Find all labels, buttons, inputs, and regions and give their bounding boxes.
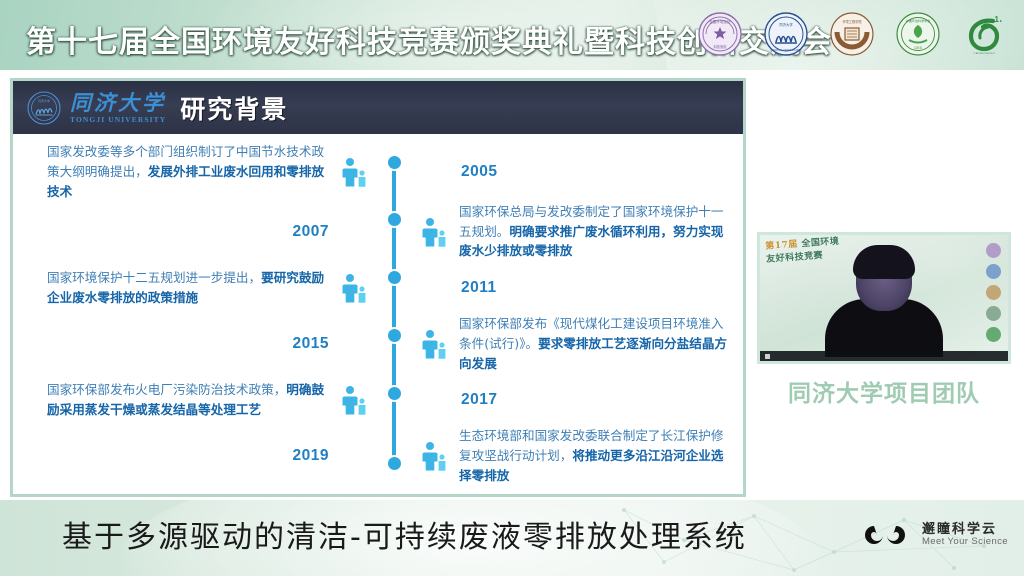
timeline-entry-paragraph: 国家环保部发布《现代煤化工建设项目环境准入条件(试行)》。要求零排放工艺逐渐向分…: [455, 314, 733, 374]
svg-text:CIES: CIES: [914, 46, 923, 50]
brand-name-cn: 邂瞳科学云: [922, 522, 1008, 537]
people-pictogram-icon: [413, 202, 455, 262]
poster-headline-line3: 友好科技竞赛: [766, 251, 824, 265]
timeline-entry-paragraph: 生态环境部和国家发改委联合制定了长江保护修复攻坚战行动计划，将推动更多沿江沿河企…: [455, 426, 733, 486]
timeline-entry-paragraph: 国家环境保护十二五规划进一步提出，要研究鼓励企业废水零排放的政策措施: [47, 268, 333, 308]
timeline-dot: [388, 156, 401, 169]
poster-headline-line1: 第17届: [765, 240, 798, 252]
timeline-dot: [388, 457, 401, 470]
tongji-wordmark: 同济大学 TONGJI UNIVERSITY: [70, 92, 166, 124]
timeline-entry-text: 国家环保部发布《现代煤化工建设项目环境准入条件(试行)》。要求零排放工艺逐渐向分…: [455, 314, 733, 374]
timeline-axis: [375, 142, 413, 486]
timeline-entry-plain: 国家环保部发布火电厂污染防治技术政策，: [47, 382, 286, 397]
people-pictogram-icon: [413, 314, 455, 374]
people-pictogram-icon: [333, 142, 375, 202]
timeline-entry-paragraph: 国家环保部发布火电厂污染防治技术政策，明确鼓励采用蒸发干燥或蒸发结晶等处理工艺: [47, 380, 333, 420]
meet-your-science-logo: [857, 520, 913, 550]
timeline-year: 2015: [47, 314, 333, 374]
people-pictogram-icon: [413, 426, 455, 486]
presenter-video-panel[interactable]: 第17届 全国环境 友好科技竞赛: [757, 232, 1011, 364]
platform-brand: 邂瞳科学云 Meet Your Science: [857, 520, 1008, 550]
svg-text:中国环境科学学会: 中国环境科学学会: [906, 18, 931, 23]
video-bottom-strip: [760, 351, 1008, 361]
timeline-entry-plain: 国家环境保护十二五规划进一步提出，: [47, 270, 261, 285]
ciesc-green-seal-logo: 中国环境科学学会 CIES: [894, 10, 942, 58]
timeline-entry-paragraph: 国家环保总局与发改委制定了国家环境保护十一五规划。明确要求推广废水循环利用，努力…: [455, 202, 733, 262]
timeline-dot: [388, 271, 401, 284]
policy-timeline: 国家发改委等多个部门组织制订了中国节水技术政策大纲明确提出，发展外排工业废水回用…: [13, 134, 743, 494]
timeline-dot: [388, 329, 401, 342]
timeline-rail: [392, 156, 396, 470]
people-pictogram-icon: [333, 374, 375, 427]
svg-text:同济大学: 同济大学: [38, 98, 50, 103]
slide-canvas: 同济大学 同济大学 TONGJI UNIVERSITY 研究背景: [10, 78, 746, 497]
tongji-wordmark-en: TONGJI UNIVERSITY: [70, 116, 166, 124]
green-leaf-17-logo: 17 Green Environment Award: [960, 10, 1008, 58]
tongji-wordmark-cn: 同济大学: [70, 92, 166, 113]
timeline-entry-text: 国家环保部发布火电厂污染防治技术政策，明确鼓励采用蒸发干燥或蒸发结晶等处理工艺: [47, 374, 333, 427]
timeline-entry-text: 生态环境部和国家发改委联合制定了长江保护修复攻坚战行动计划，将推动更多沿江沿河企…: [455, 426, 733, 486]
brand-text: 邂瞳科学云 Meet Your Science: [922, 522, 1008, 547]
event-banner: 第十七届全国环境友好科技竞赛颁奖典礼暨科技创新交流会 全国环境友好 科技竞赛: [0, 0, 1024, 70]
project-title: 基于多源驱动的清洁-可持续废液零排放处理系统: [62, 512, 747, 556]
leaf-logo-badge-number: 17: [995, 15, 1004, 24]
video-indicator-dot: [765, 354, 770, 359]
timeline-year: 2011: [455, 261, 733, 314]
timeline-entry-text: 国家环保总局与发改委制定了国家环境保护十一五规划。明确要求推广废水循环利用，努力…: [455, 202, 733, 262]
svg-text:全国环境友好: 全国环境友好: [709, 19, 731, 24]
timeline-entry-paragraph: 国家发改委等多个部门组织制订了中国节水技术政策大纲明确提出，发展外排工业废水回用…: [47, 142, 333, 202]
presenter-figure: [824, 245, 944, 357]
slide-title: 研究背景: [180, 90, 288, 126]
poster-seal-green-icon: [986, 327, 1001, 342]
presentation-screen: 第十七届全国环境友好科技竞赛颁奖典礼暨科技创新交流会 全国环境友好 科技竞赛: [0, 0, 1024, 576]
purple-seal-logo: 全国环境友好 科技竞赛: [696, 10, 744, 58]
timeline-dot: [388, 387, 401, 400]
timeline-dot: [388, 213, 401, 226]
poster-seal-blue-icon: [986, 264, 1001, 279]
slide-header: 同济大学 同济大学 TONGJI UNIVERSITY 研究背景: [13, 81, 743, 135]
slide-body: 国家发改委等多个部门组织制订了中国节水技术政策大纲明确提出，发展外排工业废水回用…: [13, 134, 743, 494]
timeline-year: 2017: [455, 374, 733, 427]
bottom-bar: 基于多源驱动的清洁-可持续废液零排放处理系统 邂瞳科学云 Meet Your S…: [0, 500, 1024, 576]
poster-seal-brown-icon: [986, 285, 1001, 300]
svg-text:Green Environment Award: Green Environment Award: [966, 51, 1001, 55]
svg-text:环境工程学院: 环境工程学院: [842, 19, 862, 24]
timeline-year: 2019: [47, 426, 333, 486]
poster-seal-column: [982, 243, 1004, 343]
brand-name-en: Meet Your Science: [922, 537, 1008, 548]
tongji-university-logo: 同济大学: [27, 91, 61, 125]
svg-text:科技竞赛: 科技竞赛: [714, 44, 728, 49]
banner-logo-row: 全国环境友好 科技竞赛 同济大学 TONGJI UNIVERSITY: [696, 5, 1008, 63]
svg-text:同济大学: 同济大学: [779, 22, 793, 27]
brown-seal-logo: 环境工程学院: [828, 10, 876, 58]
presenter-hair: [853, 245, 915, 279]
poster-seal-grey-icon: [986, 306, 1001, 321]
svg-text:TONGJI UNIVERSITY: TONGJI UNIVERSITY: [771, 48, 801, 52]
timeline-entry-text: 国家发改委等多个部门组织制订了中国节水技术政策大纲明确提出，发展外排工业废水回用…: [47, 142, 333, 202]
tongji-seal-logo: 同济大学 TONGJI UNIVERSITY: [762, 10, 810, 58]
people-pictogram-icon: [333, 261, 375, 314]
timeline-year: 2007: [47, 202, 333, 262]
poster-seal-purple-icon: [986, 243, 1001, 258]
timeline-entry-text: 国家环境保护十二五规划进一步提出，要研究鼓励企业废水零排放的政策措施: [47, 261, 333, 314]
timeline-year: 2005: [455, 142, 733, 202]
presenter-team-caption: 同济大学项目团队: [757, 374, 1011, 408]
